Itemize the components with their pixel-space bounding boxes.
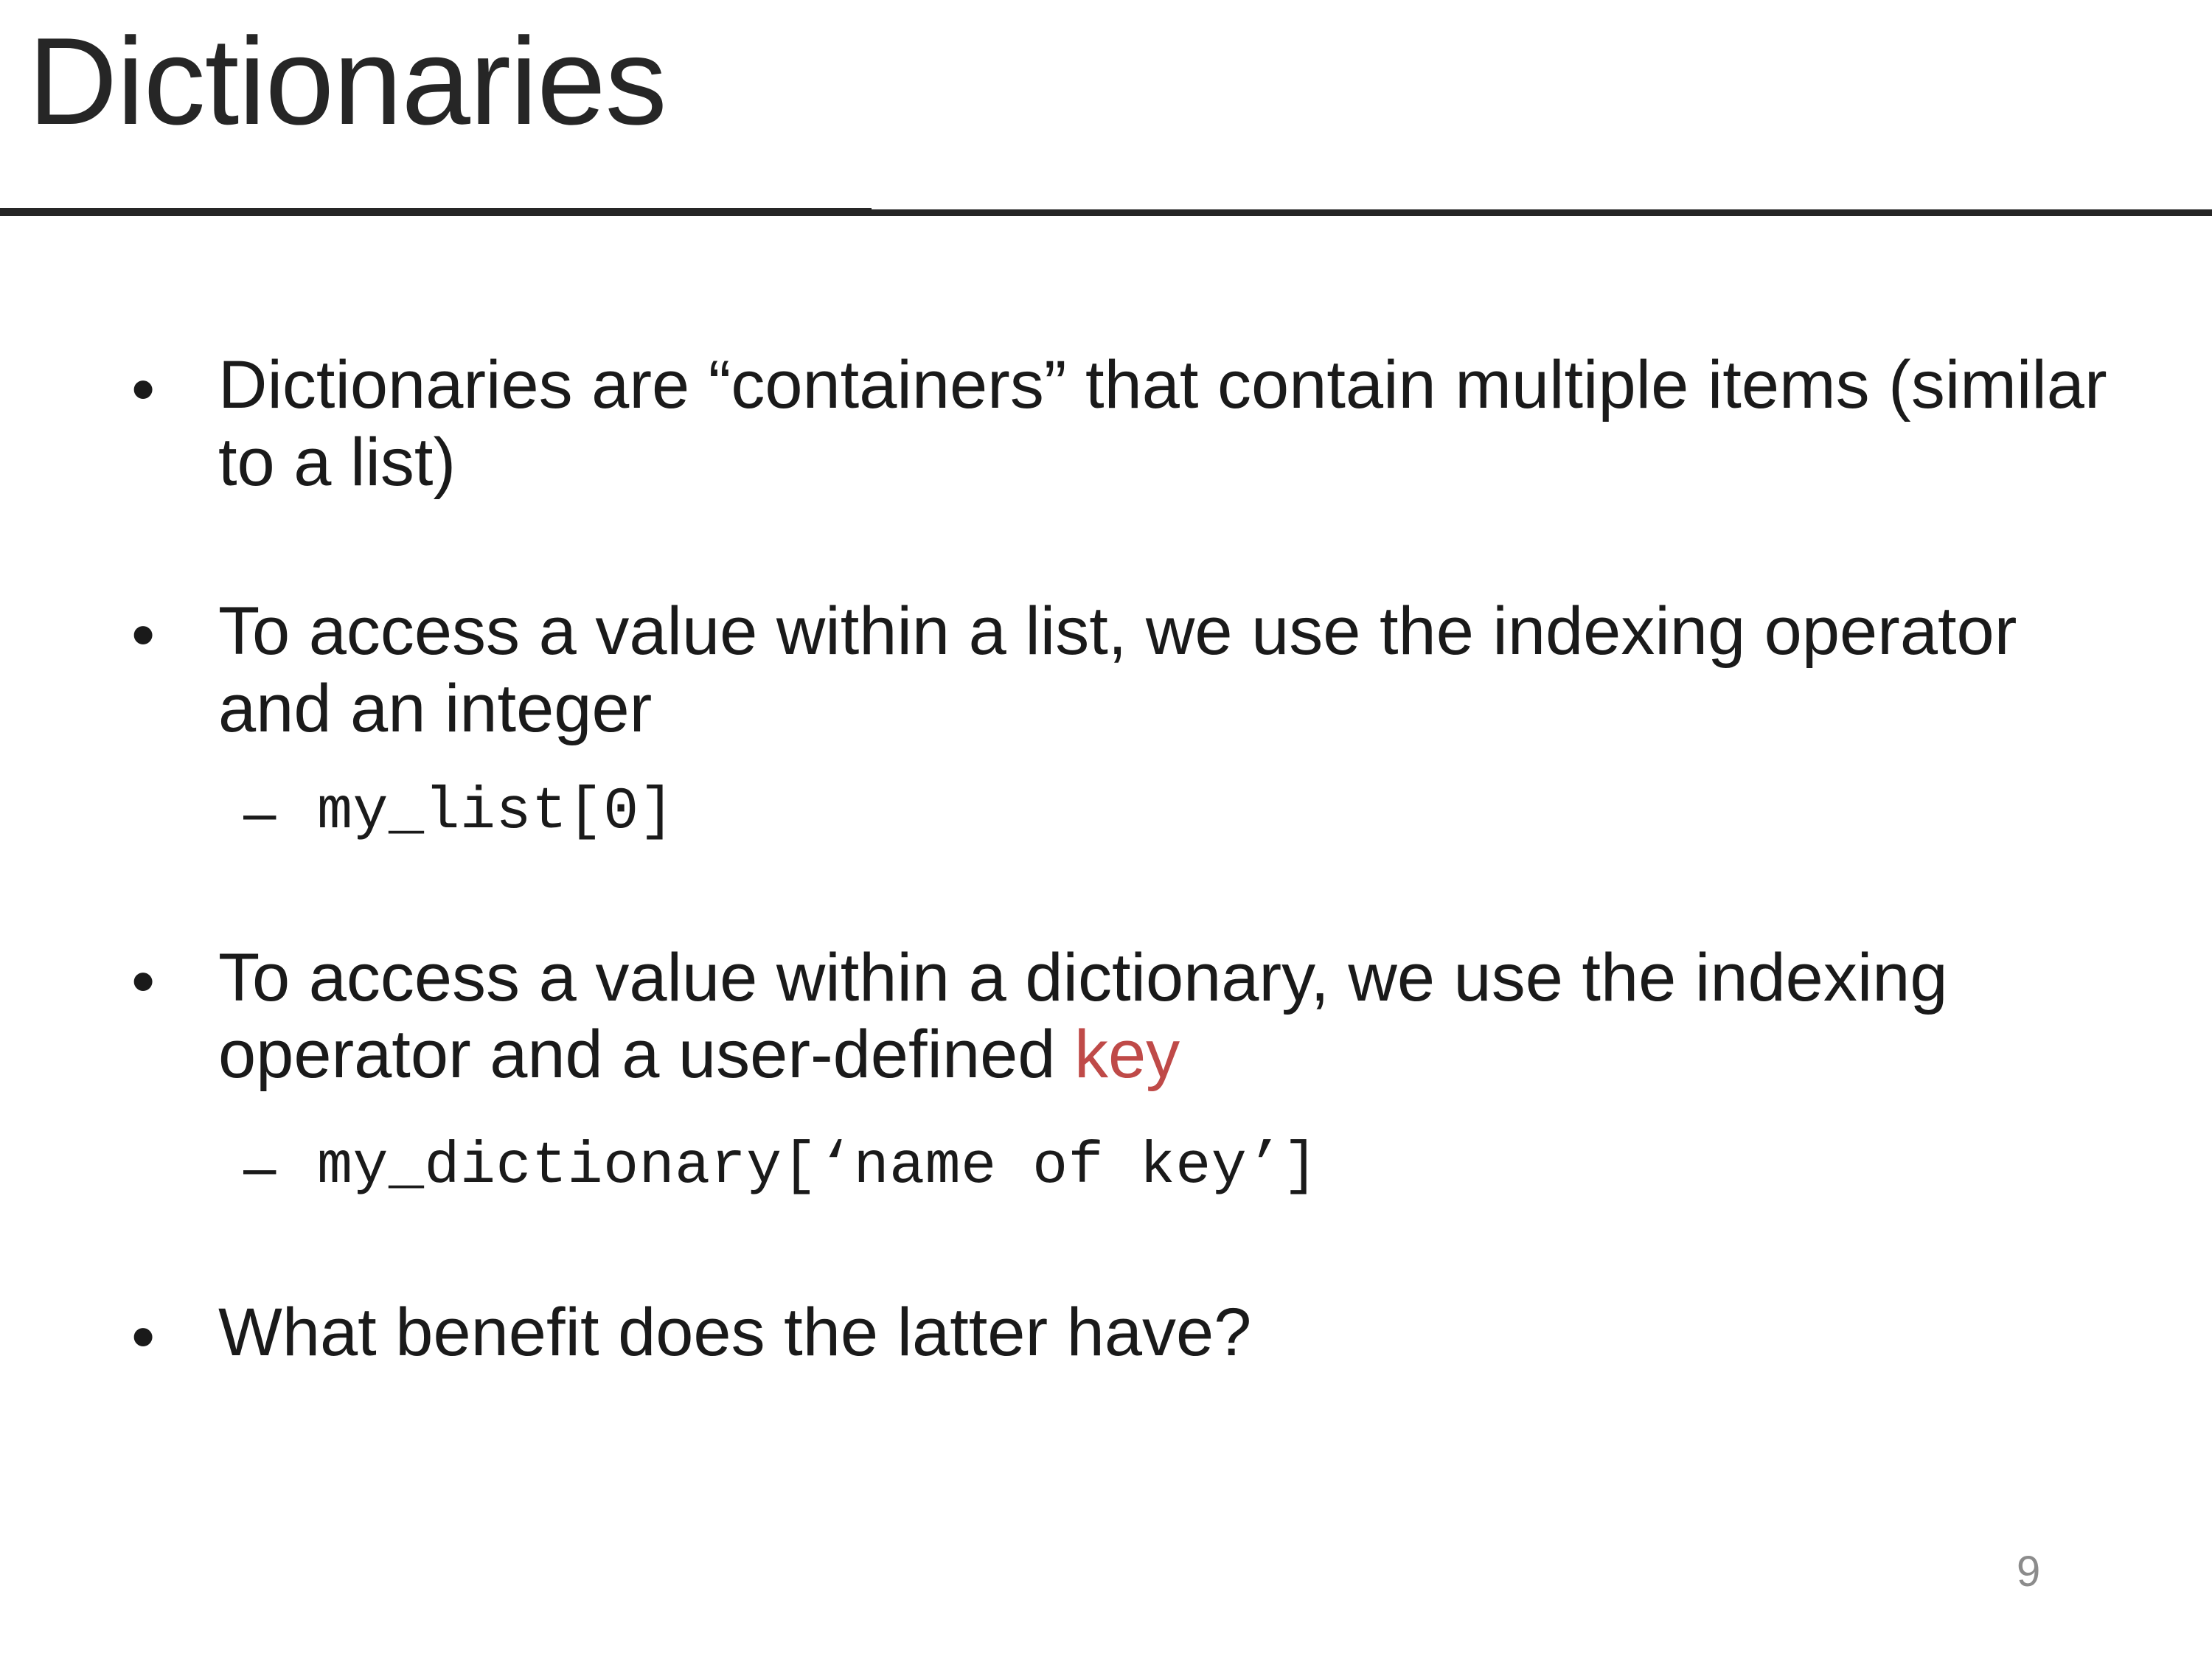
bullet-item-1: • Dictionaries are “containers” that con… bbox=[0, 347, 2212, 501]
spacer bbox=[0, 748, 2212, 777]
sub-bullet-item-1: – my_list[0] bbox=[0, 777, 2212, 848]
title-divider-right-segment bbox=[872, 209, 2212, 216]
bullet-text-2: To access a value within a list, we use … bbox=[218, 593, 2131, 748]
bullet-marker-icon: • bbox=[131, 351, 155, 428]
bullet-item-4: • What benefit does the latter have? bbox=[0, 1294, 2212, 1371]
bullet-item-2: • To access a value within a list, we us… bbox=[0, 593, 2212, 748]
sub-bullet-marker-icon: – bbox=[243, 777, 276, 848]
bullet-item-3: • To access a value within a dictionary,… bbox=[0, 939, 2212, 1094]
bullet-marker-icon: • bbox=[131, 597, 155, 674]
slide-body: • Dictionaries are “containers” that con… bbox=[0, 347, 2212, 1371]
spacer bbox=[0, 1203, 2212, 1294]
bullet-text-4: What benefit does the latter have? bbox=[218, 1294, 2131, 1371]
highlighted-key-word: key bbox=[1074, 1017, 1180, 1092]
sub-bullet-item-2: – my_dictionary[‘name of key’] bbox=[0, 1132, 2212, 1203]
spacer bbox=[0, 848, 2212, 939]
page-title: Dictionaries bbox=[28, 16, 667, 146]
sub-bullet-marker-icon: – bbox=[243, 1132, 276, 1203]
title-divider-left-segment bbox=[0, 208, 872, 216]
bullet-text-3: To access a value within a dictionary, w… bbox=[218, 939, 2131, 1094]
spacer bbox=[0, 1093, 2212, 1132]
page-number: 9 bbox=[2017, 1547, 2040, 1596]
bullet-text-1: Dictionaries are “containers” that conta… bbox=[218, 347, 2131, 501]
bullet-marker-icon: • bbox=[131, 1298, 155, 1376]
code-snippet-my-list: my_list[0] bbox=[317, 777, 2212, 848]
code-snippet-my-dictionary: my_dictionary[‘name of key’] bbox=[317, 1132, 2212, 1203]
slide: Dictionaries • Dictionaries are “contain… bbox=[0, 0, 2212, 1659]
bullet-marker-icon: • bbox=[131, 943, 155, 1020]
spacer bbox=[0, 501, 2212, 593]
